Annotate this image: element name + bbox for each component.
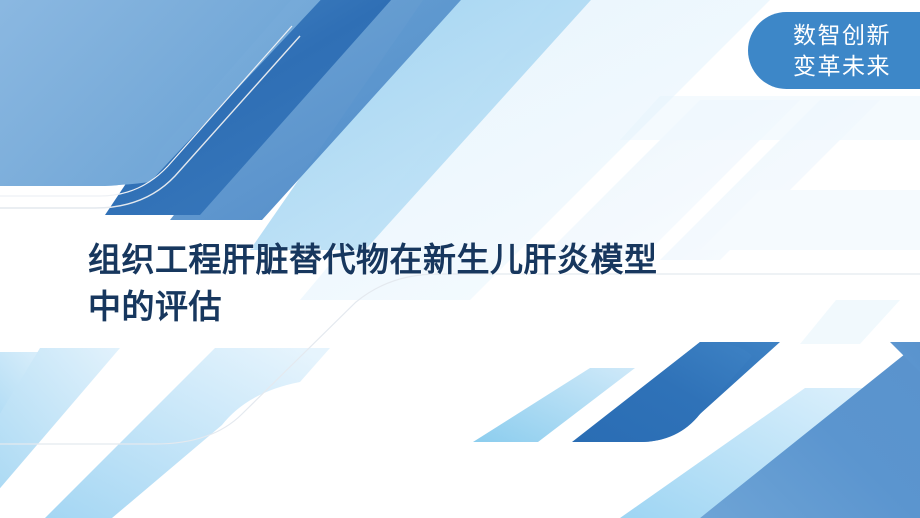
page-title: 组织工程肝脏替代物在新生儿肝炎模型 中的评估 [88,236,808,330]
br-whisper [800,300,900,344]
slide-canvas: 数智创新 变革未来 组织工程肝脏替代物在新生儿肝炎模型 中的评估 [0,0,920,518]
title-line-1: 组织工程肝脏替代物在新生儿肝炎模型 [88,236,808,283]
title-line-2: 中的评估 [88,283,808,330]
badge-line-2: 变革未来 [793,51,891,82]
corner-badge: 数智创新 变革未来 [748,12,920,89]
badge-line-1: 数智创新 [793,20,891,51]
